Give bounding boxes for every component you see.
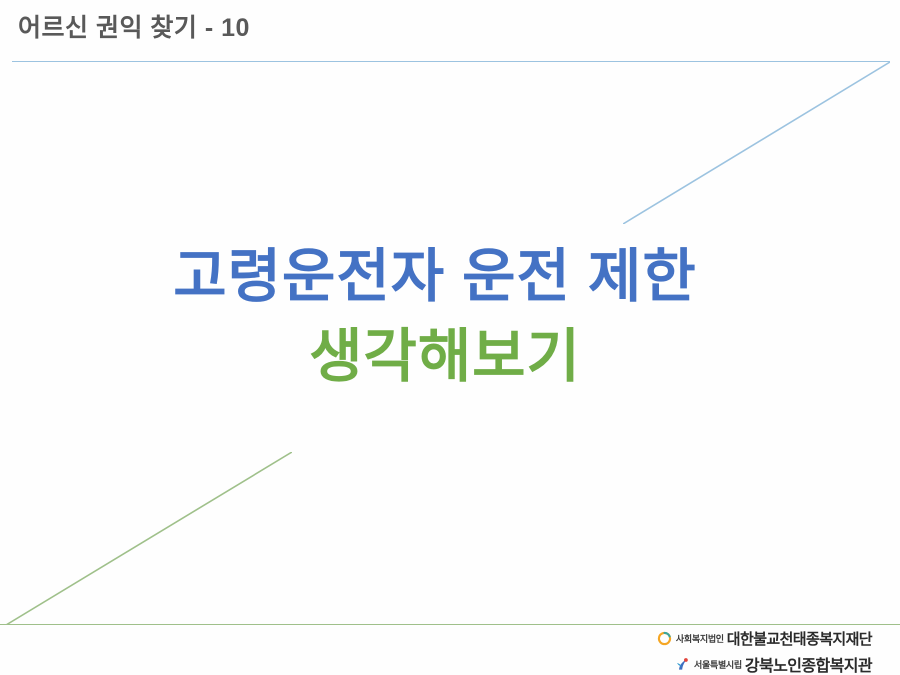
slide-title-line-1: 고령운전자 운전 제한 xyxy=(0,248,900,306)
footer-org-name: 강북노인종합복지관 xyxy=(745,652,872,675)
footer-org-prefix: 사회복지법인 xyxy=(676,632,724,645)
footer-org-prefix: 서울특별시립 xyxy=(694,658,742,671)
ring-logo-icon xyxy=(657,631,672,646)
presentation-slide: 어르신 권익 찾기 - 10 고령운전자 운전 제한 생각해보기 사회복지법인 … xyxy=(0,0,900,675)
footer-divider-green xyxy=(0,624,900,625)
footer-row: 사회복지법인 대한불교천태종복지재단 xyxy=(657,628,872,649)
footer-org-name: 대한불교천태종복지재단 xyxy=(727,628,872,649)
top-right-blue-diagonal-icon xyxy=(623,62,890,224)
slide-title-block: 고령운전자 운전 제한 생각해보기 xyxy=(0,248,900,386)
slide-header: 어르신 권익 찾기 - 10 xyxy=(18,8,618,52)
page-title: 어르신 권익 찾기 - 10 xyxy=(18,8,618,48)
footer-logos: 사회복지법인 대한불교천태종복지재단 서울특별시립 강북노인종합복지관 xyxy=(657,628,872,675)
bottom-left-green-diagonal-icon xyxy=(6,452,292,625)
person-logo-icon xyxy=(675,657,690,672)
slide-title-line-2: 생각해보기 xyxy=(0,328,900,386)
footer-row: 서울특별시립 강북노인종합복지관 xyxy=(675,652,872,675)
header-divider-blue xyxy=(12,61,890,62)
